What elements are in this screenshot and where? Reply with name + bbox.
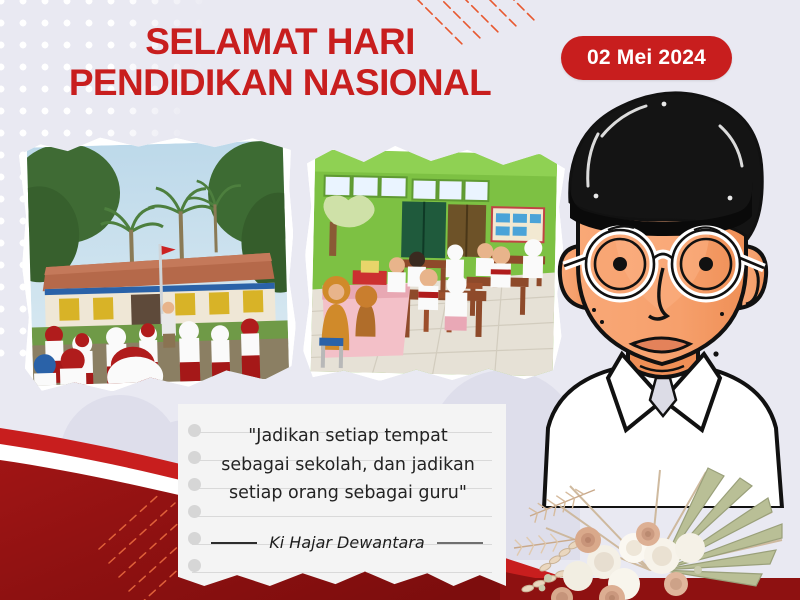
author-dash-right — [437, 542, 483, 544]
author-dash-left — [211, 542, 257, 544]
quote-line-2: sebagai sekolah, dan jadikan — [204, 451, 492, 480]
quote-author: Ki Hajar Dewantara — [269, 533, 424, 552]
ki-hajar-dewantara-portrait — [524, 78, 800, 508]
punch-hole — [188, 451, 201, 464]
quote-author-row: Ki Hajar Dewantara — [204, 533, 490, 552]
quote-text: "Jadikan setiap tempat sebagai sekolah, … — [204, 422, 492, 508]
punch-holes — [188, 424, 201, 586]
flag-ceremony-illustration — [19, 132, 298, 393]
punch-hole — [188, 505, 201, 518]
title-line-2: PENDIDIKAN NASIONAL — [0, 63, 560, 104]
punch-hole — [188, 424, 201, 437]
quote-line-3: setiap orang sebagai guru" — [204, 479, 492, 508]
ghost-shape-decoration — [60, 395, 180, 515]
punch-hole — [188, 559, 201, 572]
quote-line-1: "Jadikan setiap tempat — [204, 422, 492, 451]
quote-card: "Jadikan setiap tempat sebagai sekolah, … — [178, 404, 506, 586]
punch-hole — [188, 532, 201, 545]
page-title: SELAMAT HARI PENDIDIKAN NASIONAL — [0, 22, 560, 103]
punch-hole — [188, 478, 201, 491]
poster-canvas: SELAMAT HARI PENDIDIKAN NASIONAL 02 Mei … — [0, 0, 800, 600]
title-line-1: SELAMAT HARI — [0, 22, 560, 63]
date-badge[interactable]: 02 Mei 2024 — [561, 36, 732, 80]
flag-ceremony-photo — [19, 132, 298, 393]
